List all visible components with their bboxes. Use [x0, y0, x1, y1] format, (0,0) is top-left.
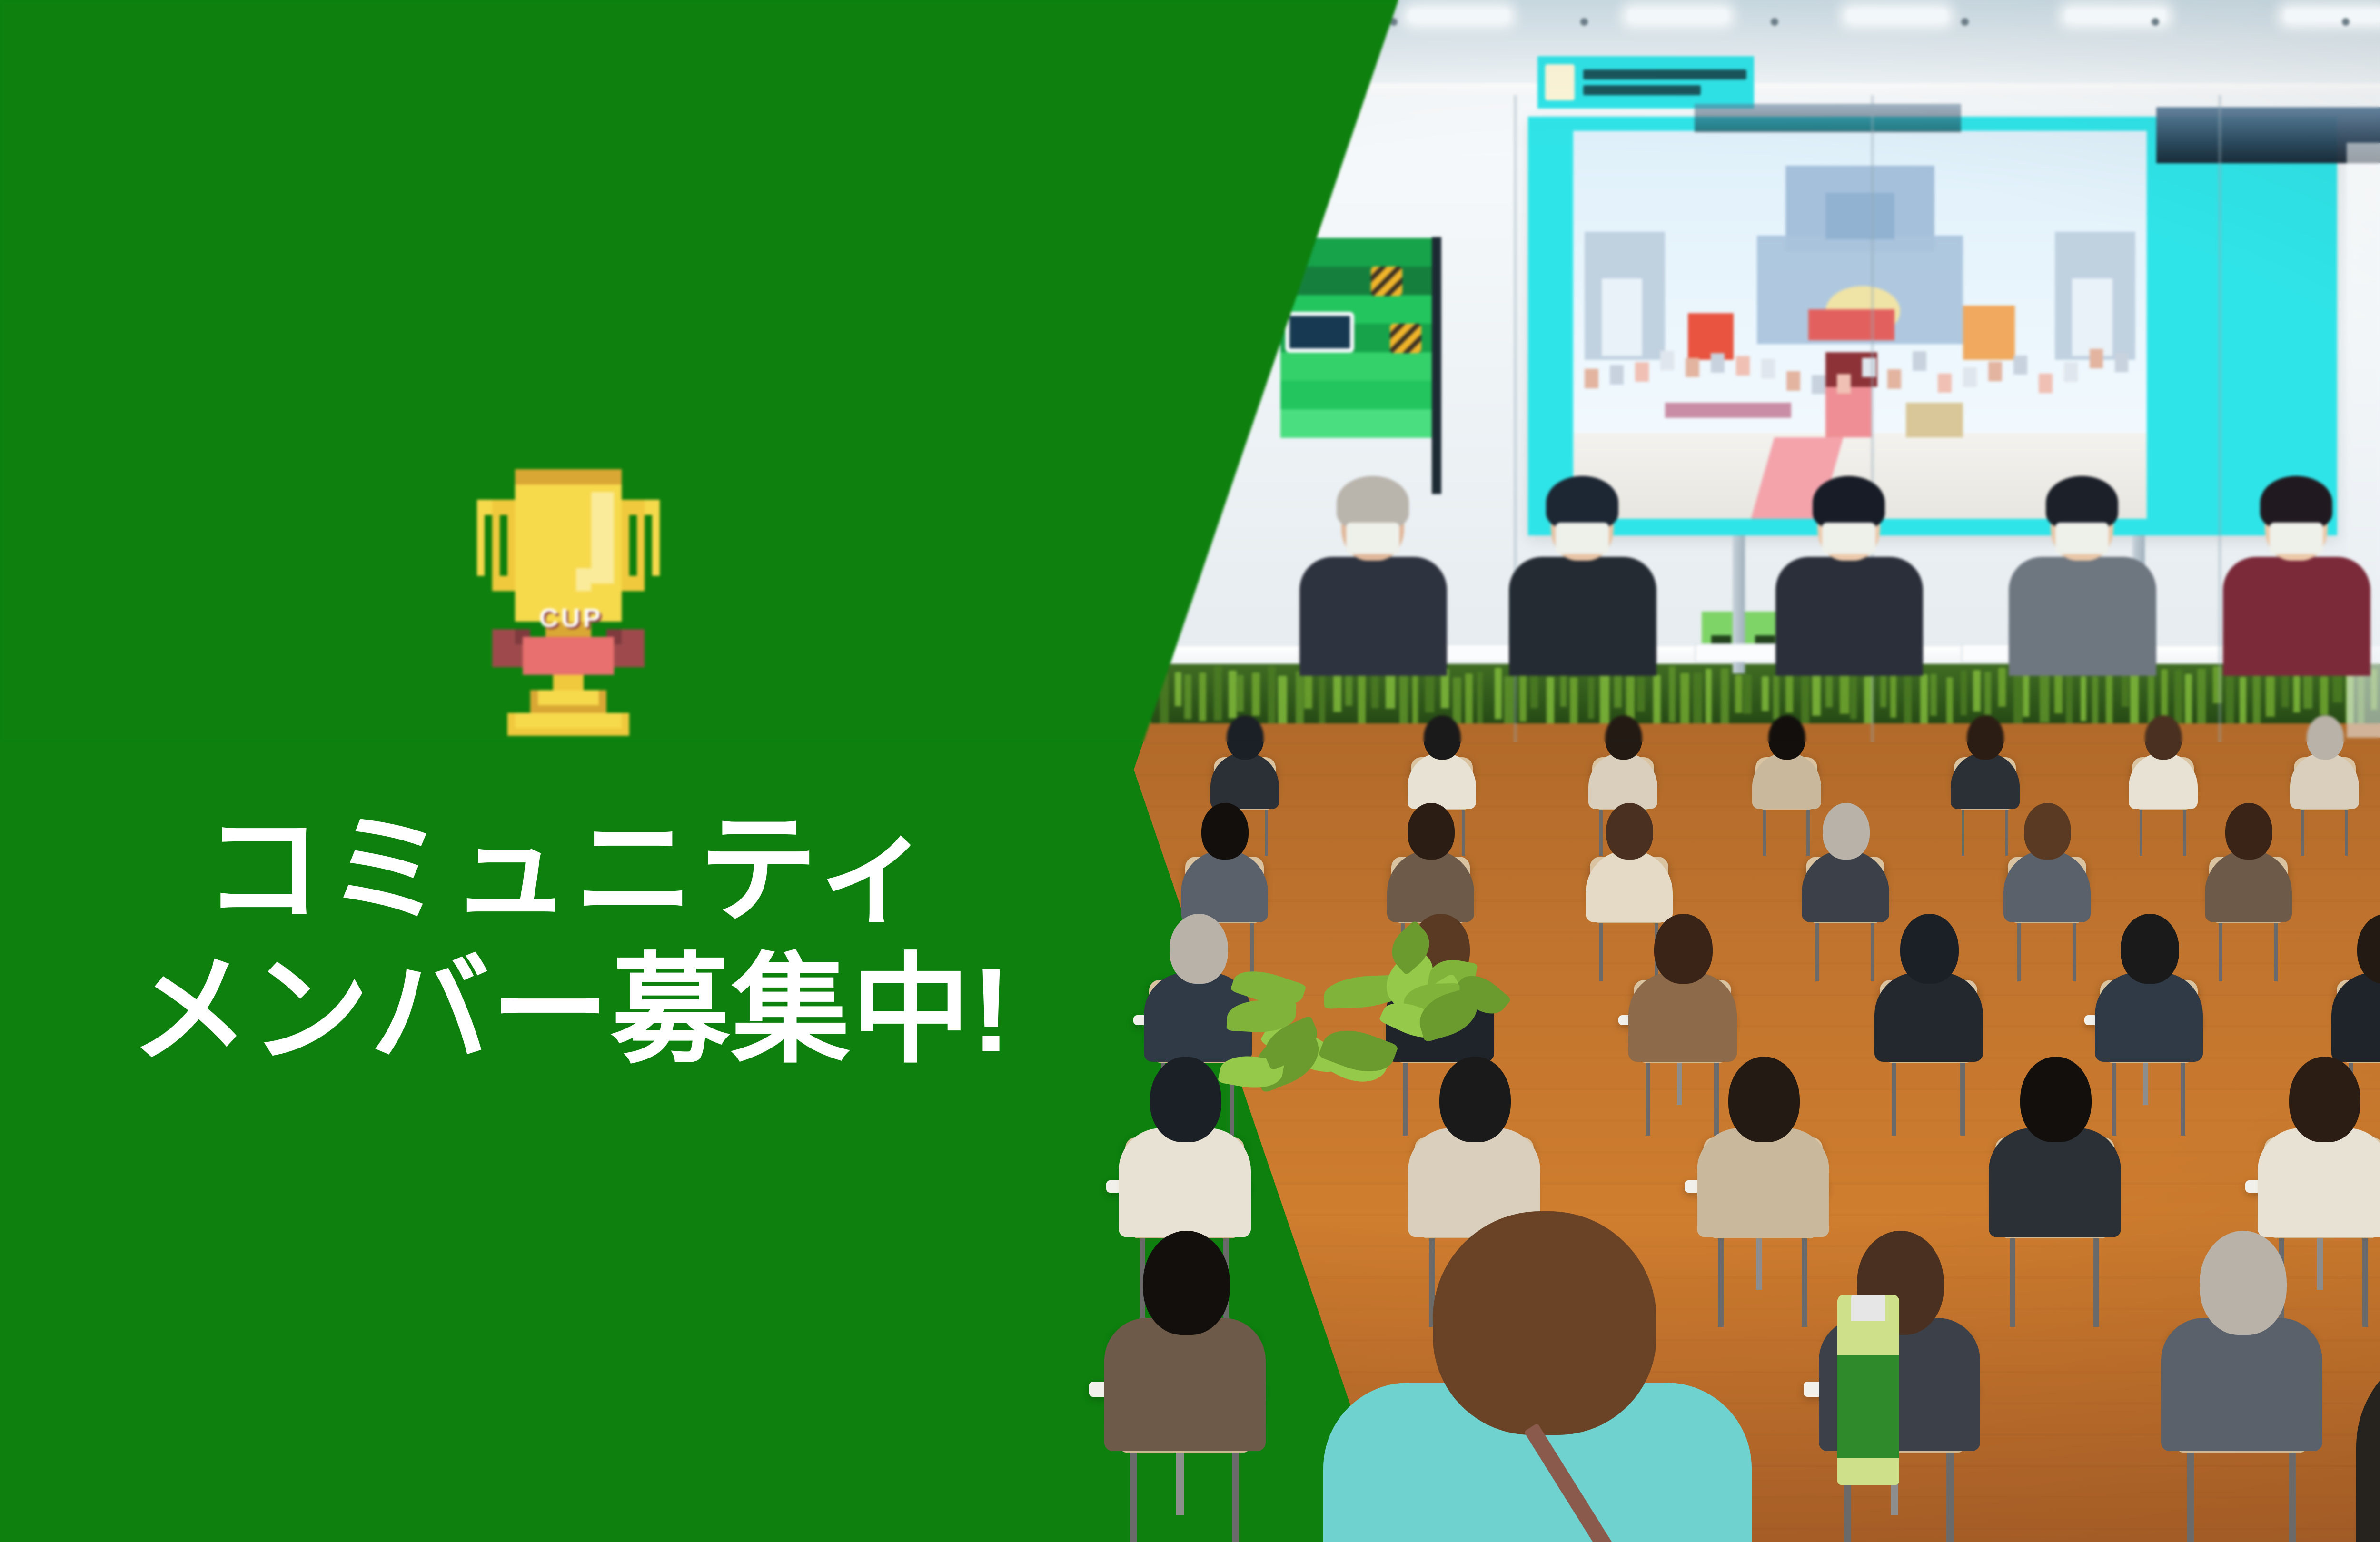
grass-tuft	[1721, 668, 1729, 724]
grass-tuft	[1904, 675, 1912, 730]
grass-tuft	[1453, 677, 1462, 726]
audience-person-head	[1143, 1231, 1230, 1335]
sand-block	[1906, 403, 1963, 437]
ceiling-fixture	[2342, 18, 2350, 26]
chair-leg	[2345, 809, 2348, 856]
grass-tuft	[1184, 674, 1191, 719]
crowd-block	[1837, 374, 1851, 394]
crowd-block	[1938, 374, 1952, 393]
grass-tuft	[1961, 671, 1967, 715]
grass-tuft	[2293, 676, 2301, 712]
crowd-block	[1913, 351, 1926, 371]
audience-person-head	[1728, 1057, 1800, 1142]
potted-plant	[1371, 919, 1500, 1056]
grass-tuft	[1880, 672, 1886, 707]
red-banner	[1808, 309, 1894, 340]
projection-screen	[1528, 117, 2337, 535]
grass-tuft	[1840, 672, 1849, 714]
chair-leg	[2219, 922, 2222, 981]
audience-person-body	[1989, 1128, 2121, 1237]
chair-leg	[2017, 922, 2021, 981]
chair-leg	[2183, 809, 2186, 856]
floor-plank	[1133, 899, 2380, 902]
trophy-handle-left-inner-hole	[500, 515, 507, 576]
crowd-block	[1761, 359, 1775, 378]
chair-leg	[2010, 1236, 2015, 1327]
crowd-block	[1635, 362, 1649, 382]
crowd-block	[1736, 356, 1750, 376]
audience-person-body	[1874, 972, 1983, 1062]
banner-pixel	[1280, 409, 1312, 438]
audience-person-head	[1605, 715, 1642, 760]
chair-leg	[2301, 809, 2304, 856]
grass-tuft	[1229, 671, 1237, 718]
grass-tuft	[1296, 671, 1304, 724]
chair-leg	[1806, 809, 1809, 856]
banner-pixel	[1312, 381, 1343, 409]
trophy-shine-small	[576, 568, 591, 591]
audience-person-body	[1697, 1128, 1829, 1237]
grass-tuft	[1237, 675, 1244, 712]
grass-tuft	[1199, 672, 1206, 721]
ceiling-light	[2066, 10, 2166, 22]
foreground-person-hair	[1433, 1211, 1656, 1435]
banner-pixel	[1343, 381, 1375, 409]
audience-person-head	[2307, 715, 2344, 760]
bee-icon	[1390, 324, 1421, 353]
crowd-block	[1963, 367, 1977, 387]
ceiling-beam	[1695, 104, 1961, 132]
chair-leg	[1718, 1236, 1724, 1327]
chair-leg	[1130, 1450, 1137, 1542]
trophy-handle-right-inner-hole	[629, 515, 637, 576]
floor-plank	[1133, 1308, 2380, 1310]
crowd-block	[2064, 362, 2078, 382]
bottle-cap	[1851, 1295, 1886, 1321]
crowd-block	[2090, 349, 2103, 368]
drink-bottle	[1837, 1295, 1899, 1485]
potted-plant	[1219, 971, 1380, 1142]
audience-person-head	[1823, 803, 1870, 860]
floor-plank	[1133, 931, 2380, 933]
grass-tuft	[1637, 676, 1646, 712]
grass-tuft	[1743, 674, 1752, 714]
floor-plank	[1133, 742, 2380, 745]
grass-tuft	[1399, 674, 1408, 730]
trophy-ribbon-label: CUP	[539, 602, 603, 633]
grass-tuft	[1495, 668, 1501, 719]
grass-tuft	[1465, 673, 1473, 727]
chair-leg	[2073, 922, 2076, 981]
panelist-body	[2009, 557, 2156, 676]
trophy-shine	[591, 492, 614, 583]
grass-tuft	[1930, 674, 1937, 716]
grass-tuft	[1477, 672, 1483, 728]
face-mask	[2270, 523, 2323, 554]
bottle-label	[1837, 1355, 1899, 1458]
grass-tuft	[1345, 672, 1352, 705]
banner-pixel	[1312, 409, 1343, 438]
grass-tuft	[1588, 677, 1594, 719]
chair-leg	[2187, 1450, 2194, 1542]
banner-pixel	[1343, 352, 1375, 381]
pixel-trophy-icon: CUP	[462, 462, 681, 728]
grass-tuft	[2054, 673, 2063, 713]
right-arch-gap	[2072, 278, 2112, 356]
audience-person-head	[2024, 803, 2071, 860]
grass-tuft	[2013, 667, 2022, 729]
chair-leg	[2005, 809, 2008, 856]
audience-person-head	[1439, 1057, 1511, 1142]
trophy-base-upper-top	[538, 690, 599, 705]
purple-path	[1665, 403, 1791, 418]
face-mask	[1822, 523, 1875, 554]
audience-person-head	[1201, 803, 1249, 860]
grass-tuft	[2081, 676, 2086, 721]
crowd-block	[1812, 375, 1825, 395]
grass-tuft	[1973, 670, 1981, 712]
grass-tuft	[1333, 674, 1341, 712]
castle-spire	[1825, 193, 1894, 239]
grass-tuft	[1304, 675, 1312, 709]
ceiling-light	[1628, 10, 1728, 22]
panelist-body	[1775, 557, 1923, 676]
banner-pole	[1432, 237, 1441, 494]
chair-leg	[1763, 809, 1766, 856]
chair-leg	[2112, 1061, 2117, 1136]
banner-pixel	[1280, 381, 1312, 409]
chair-leg	[1871, 922, 1874, 981]
grass-tuft	[1214, 666, 1222, 721]
audience-person-head	[1768, 715, 1805, 760]
trophy-base-lower-top	[515, 713, 622, 728]
chair-leg	[1232, 1450, 1239, 1542]
audience-person-head	[1227, 715, 1264, 760]
grass-tuft	[2226, 668, 2234, 724]
audience-person-head	[1654, 914, 1713, 984]
ceiling-light	[1409, 10, 1509, 22]
grass-tuft	[2266, 676, 2275, 717]
crowd-block	[1887, 369, 1901, 389]
ceiling-light	[1847, 10, 1947, 22]
ceiling-fixture	[2152, 18, 2159, 26]
grass-tuft	[1762, 676, 1769, 711]
audience-person-body	[2258, 1128, 2380, 1237]
chair-leg	[1815, 922, 1819, 981]
grass-tuft	[1825, 671, 1833, 707]
grass-tuft	[2106, 667, 2112, 733]
chair-leg	[1960, 1061, 1965, 1136]
grass-tuft	[2281, 673, 2289, 708]
chair-leg	[1462, 809, 1465, 856]
banner-pixel	[1375, 352, 1406, 381]
crowd-block	[1585, 369, 1598, 388]
audience-person-head	[1150, 1057, 1221, 1142]
grass-tuft	[1386, 670, 1395, 709]
banner-label-plate	[1285, 312, 1354, 353]
badge-icon	[1545, 64, 1575, 100]
banner-pixel	[1343, 409, 1375, 438]
floor-plank	[1133, 837, 2380, 839]
audience-person-head	[2020, 1057, 2092, 1142]
audience-person-head	[1967, 715, 2004, 760]
crowd-block	[2115, 353, 2129, 373]
grass-tuft	[2320, 676, 2328, 715]
crowd-block	[1786, 371, 1800, 391]
grass-tuft	[1773, 675, 1779, 720]
pink-statue	[1825, 387, 1871, 437]
face-mask	[1346, 523, 1399, 554]
panelist-body	[1299, 557, 1447, 676]
crowd-block	[1711, 353, 1725, 373]
banner-pixel	[1343, 267, 1375, 295]
ribbon-band	[523, 637, 614, 675]
banner-content: CUP コミュニティ メンバー募集中!	[0, 0, 1142, 1542]
crowd-block	[1988, 362, 2002, 381]
chair-leg	[2181, 1061, 2185, 1136]
panelist-body	[1509, 557, 1656, 676]
chair-leg	[1892, 1061, 1896, 1136]
crowd-block	[1610, 365, 1624, 385]
screen-title-badge	[1537, 56, 1754, 109]
floor-plank	[1133, 962, 2380, 965]
panelist-body	[2223, 557, 2370, 676]
grass-tuft	[1693, 672, 1702, 731]
left-arch-gap	[1602, 278, 1642, 356]
audience-person-head	[1408, 803, 1455, 860]
ceiling-fixture	[1580, 18, 1588, 26]
ceiling-light	[2285, 10, 2380, 22]
audience-person-body	[2161, 1318, 2322, 1452]
ceiling-fixture	[1961, 18, 1969, 26]
grass-tuft	[1812, 675, 1821, 716]
banner-pixel	[1343, 238, 1375, 267]
panelist-hair	[2260, 476, 2332, 529]
grass-tuft	[1735, 675, 1742, 713]
banner-canvas: CUP コミュニティ メンバー募集中!	[0, 0, 2380, 1542]
chair-leg	[1265, 809, 1268, 856]
grass-tuft	[1984, 672, 1991, 714]
banner-pixel	[1375, 238, 1406, 267]
page-title: コミュニティ メンバー募集中!	[130, 800, 1012, 1080]
banner-pixel	[1312, 352, 1343, 381]
banner-pixel	[1375, 381, 1406, 409]
crowd-block	[2039, 374, 2053, 393]
audience-person-head	[2121, 914, 2179, 984]
orange-block	[1963, 306, 2014, 360]
grass-tuft	[1653, 675, 1661, 723]
grass-tuft	[2066, 675, 2073, 724]
chair-leg	[1403, 1061, 1408, 1136]
badge-text-line-2	[1583, 85, 1701, 95]
wall-seam	[2218, 95, 2221, 742]
panelist-hair	[1546, 476, 1618, 529]
audience-person-head	[1900, 914, 1959, 984]
chair-leg	[1946, 1450, 1954, 1542]
chair-leg	[1714, 1061, 1719, 1136]
banner-pixel	[1375, 409, 1406, 438]
banner-pixel	[1312, 238, 1343, 267]
ceiling-fixture	[1771, 18, 1778, 26]
bee-icon	[1371, 267, 1402, 296]
trophy-rim	[515, 469, 622, 484]
face-mask	[1556, 523, 1609, 554]
banner-pixel	[1375, 295, 1406, 324]
chair-leg	[1599, 922, 1603, 981]
grass-tuft	[1998, 668, 2006, 707]
floor-plank	[1133, 868, 2380, 870]
audience-person-body	[1104, 1318, 1266, 1452]
headline-line-1: コミュニティ	[130, 800, 1012, 940]
chair-leg	[2289, 1450, 2296, 1542]
audience-person-head	[2289, 1057, 2360, 1142]
audience-person-head	[2145, 715, 2182, 760]
chair-leg	[1802, 1236, 1807, 1327]
headline-line-2: メンバー募集中!	[130, 940, 1012, 1080]
grass-tuft	[2303, 674, 2312, 709]
panelist-hair	[1813, 476, 1885, 529]
grass-tuft	[2174, 670, 2182, 728]
face-mask	[2055, 523, 2109, 554]
badge-text-line-1	[1583, 69, 1746, 79]
chair-leg	[2274, 922, 2278, 981]
panelist-hair	[2046, 476, 2118, 529]
grass-tuft	[1785, 670, 1793, 712]
audience-person-head	[2200, 1231, 2287, 1335]
chair-leg	[2362, 1236, 2368, 1327]
chair-leg	[1646, 1061, 1650, 1136]
audience-person-head	[1424, 715, 1461, 760]
chair-leg	[2140, 809, 2142, 856]
chair-leg	[2093, 1236, 2099, 1327]
audience-person-head	[2225, 803, 2272, 860]
audience-person-head	[1606, 803, 1653, 860]
grass-tuft	[1669, 666, 1676, 722]
grass-tuft	[2040, 673, 2049, 722]
crowd-block	[1660, 351, 1674, 370]
chair-leg	[1962, 809, 1964, 856]
grass-tuft	[1252, 672, 1260, 716]
crowd-block	[2013, 356, 2027, 375]
grass-tuft	[1175, 672, 1181, 706]
banner-pixel	[1312, 267, 1343, 295]
audience-person-body	[2095, 972, 2203, 1062]
panelist-hair	[1337, 476, 1409, 529]
grass-tuft	[1706, 669, 1712, 724]
audience-person-body	[1119, 1128, 1251, 1237]
projection-screen-content	[1573, 131, 2147, 519]
chair-leg	[1599, 809, 1602, 856]
banner-pixel	[1280, 352, 1312, 381]
grass-tuft	[1946, 677, 1954, 726]
crowd-block	[1686, 358, 1699, 377]
audience-person-body	[1628, 972, 1737, 1062]
grass-tuft	[1268, 666, 1275, 730]
